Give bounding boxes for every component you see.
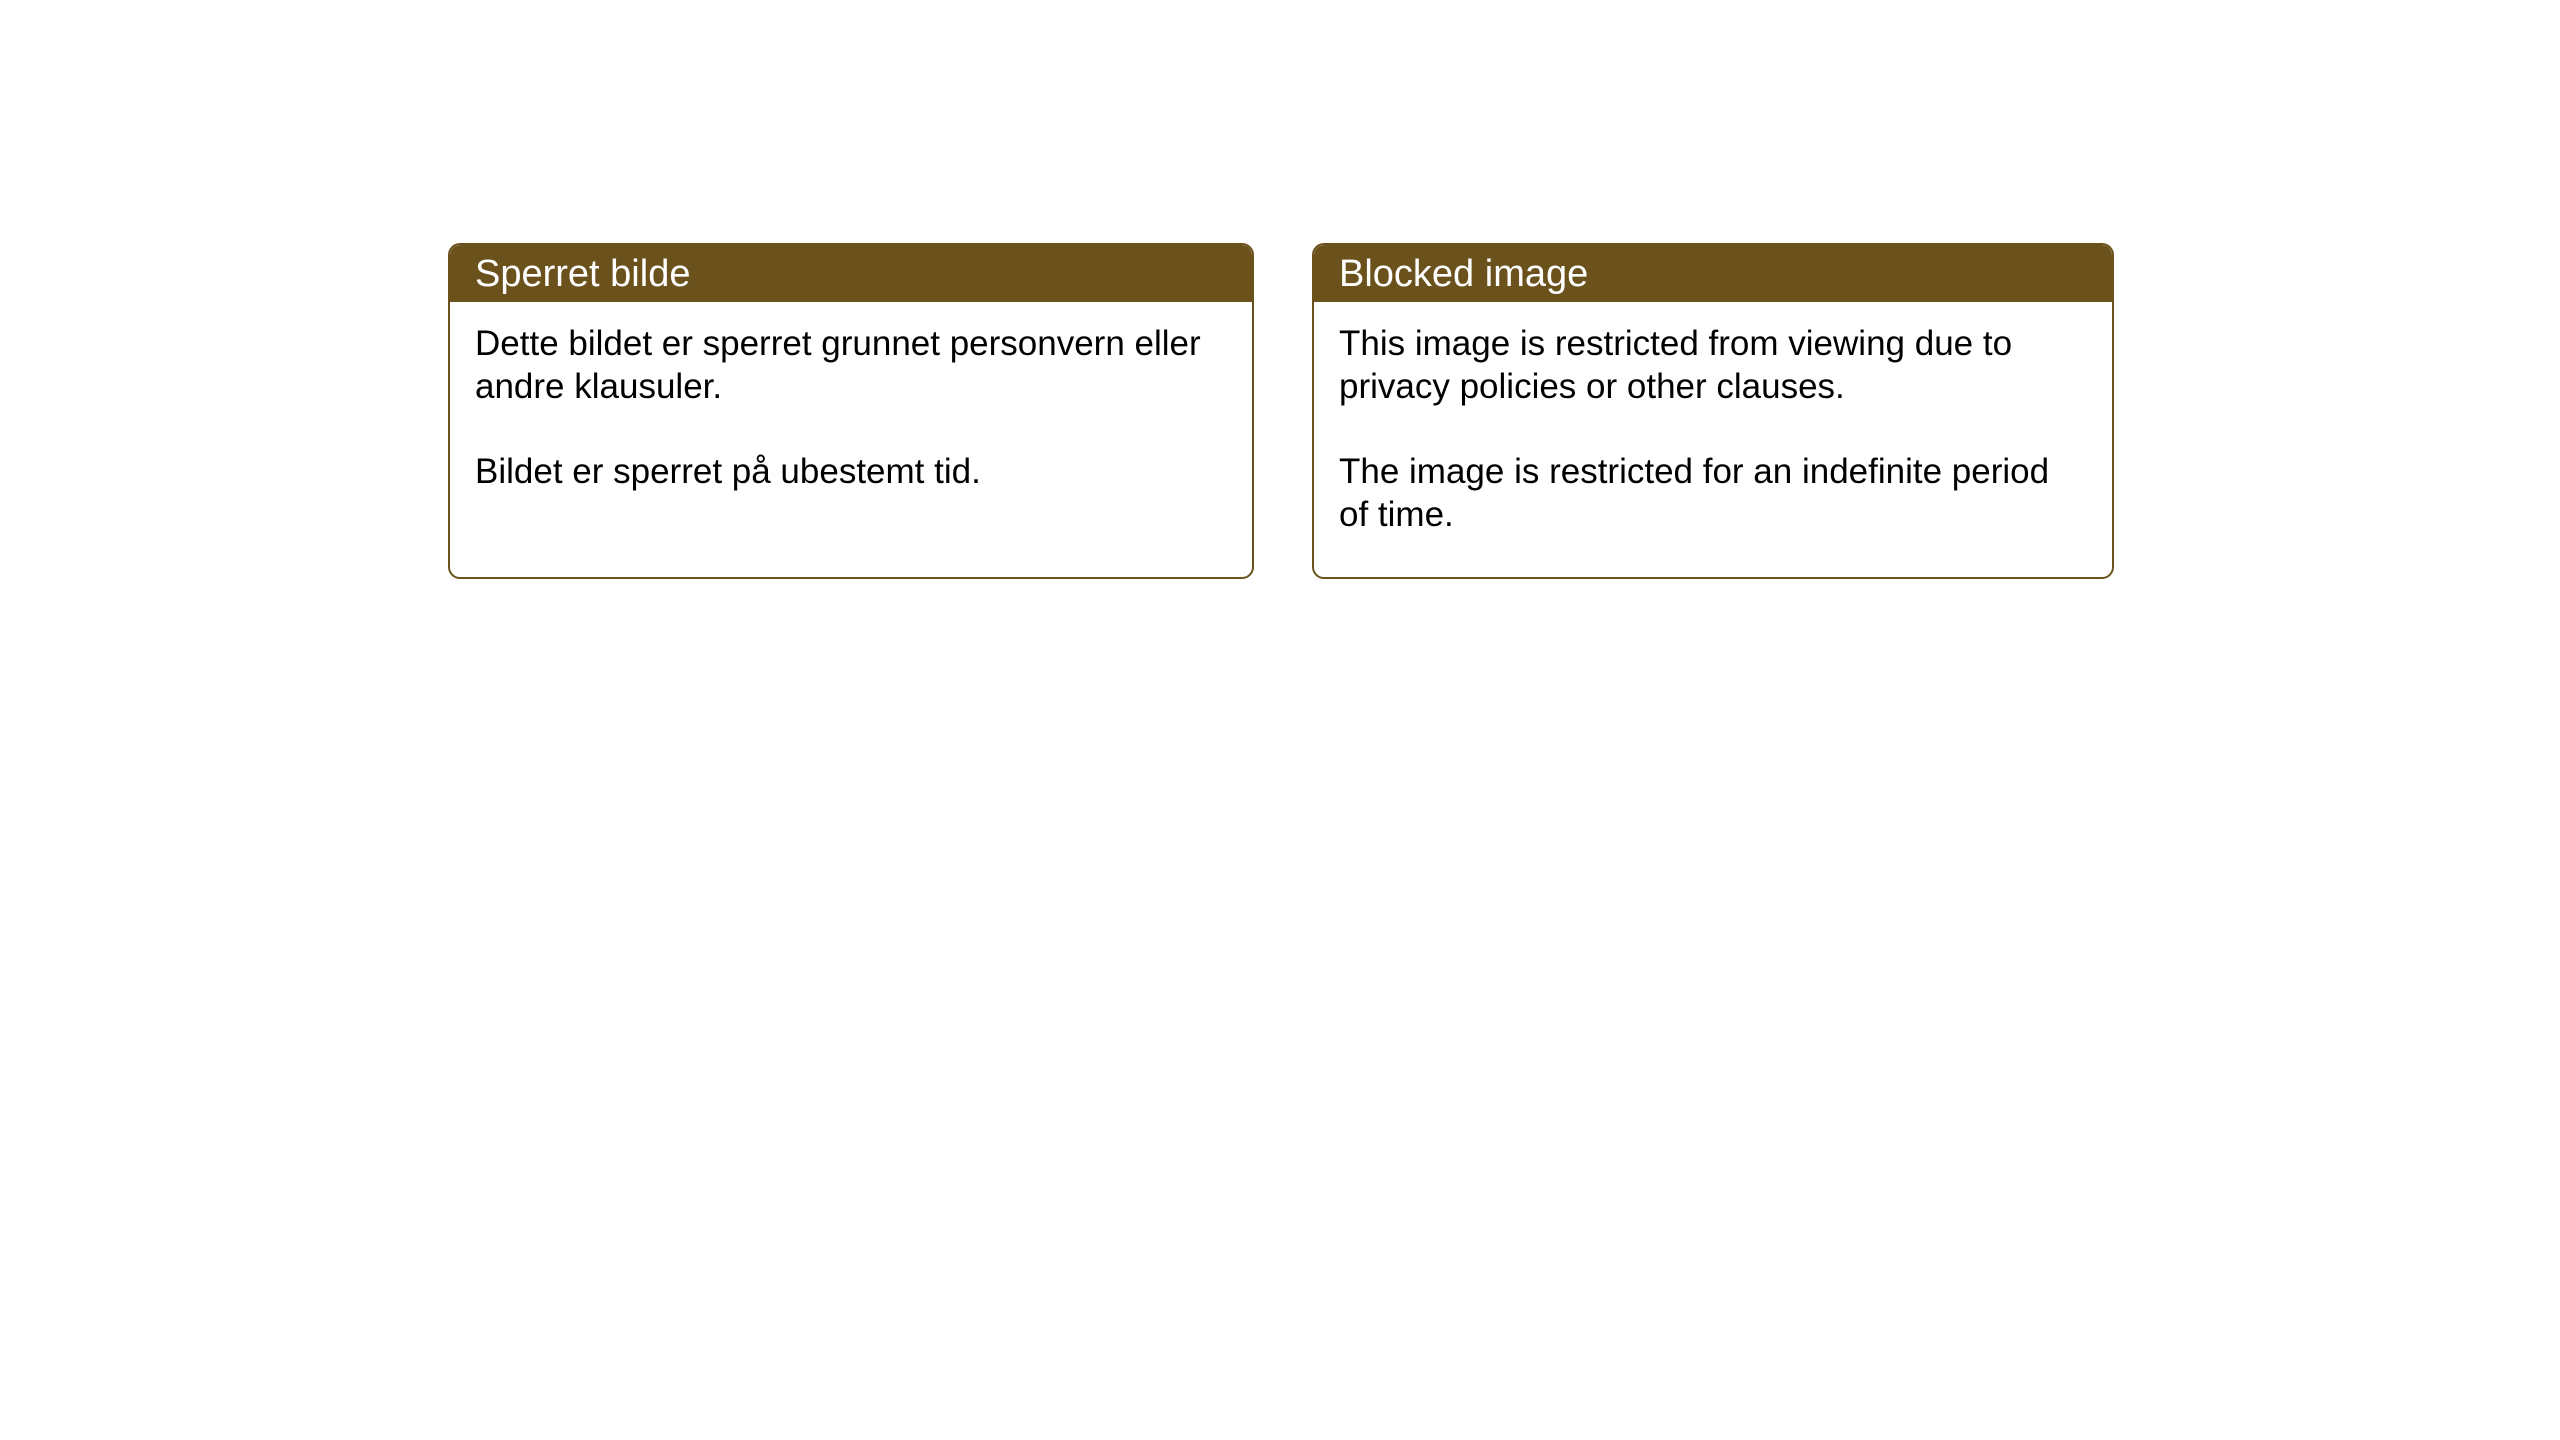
notice-title-norwegian: Sperret bilde: [475, 252, 690, 296]
notice-paragraph-reason-norwegian: Dette bildet er sperret grunnet personve…: [475, 322, 1215, 408]
notice-paragraph-duration-english: The image is restricted for an indefinit…: [1339, 450, 2079, 536]
notice-header-english: Blocked image: [1314, 245, 2112, 302]
notice-body-norwegian: Dette bildet er sperret grunnet personve…: [450, 302, 1252, 493]
notice-paragraph-reason-english: This image is restricted from viewing du…: [1339, 322, 2079, 408]
notice-header-norwegian: Sperret bilde: [450, 245, 1252, 302]
page-canvas: Sperret bilde Dette bildet er sperret gr…: [0, 0, 2560, 1440]
notice-paragraph-duration-norwegian: Bildet er sperret på ubestemt tid.: [475, 450, 1215, 493]
blocked-image-notice-english: Blocked image This image is restricted f…: [1312, 243, 2114, 579]
blocked-image-notice-norwegian: Sperret bilde Dette bildet er sperret gr…: [448, 243, 1254, 579]
notice-title-english: Blocked image: [1339, 252, 1588, 296]
notice-body-english: This image is restricted from viewing du…: [1314, 302, 2112, 536]
